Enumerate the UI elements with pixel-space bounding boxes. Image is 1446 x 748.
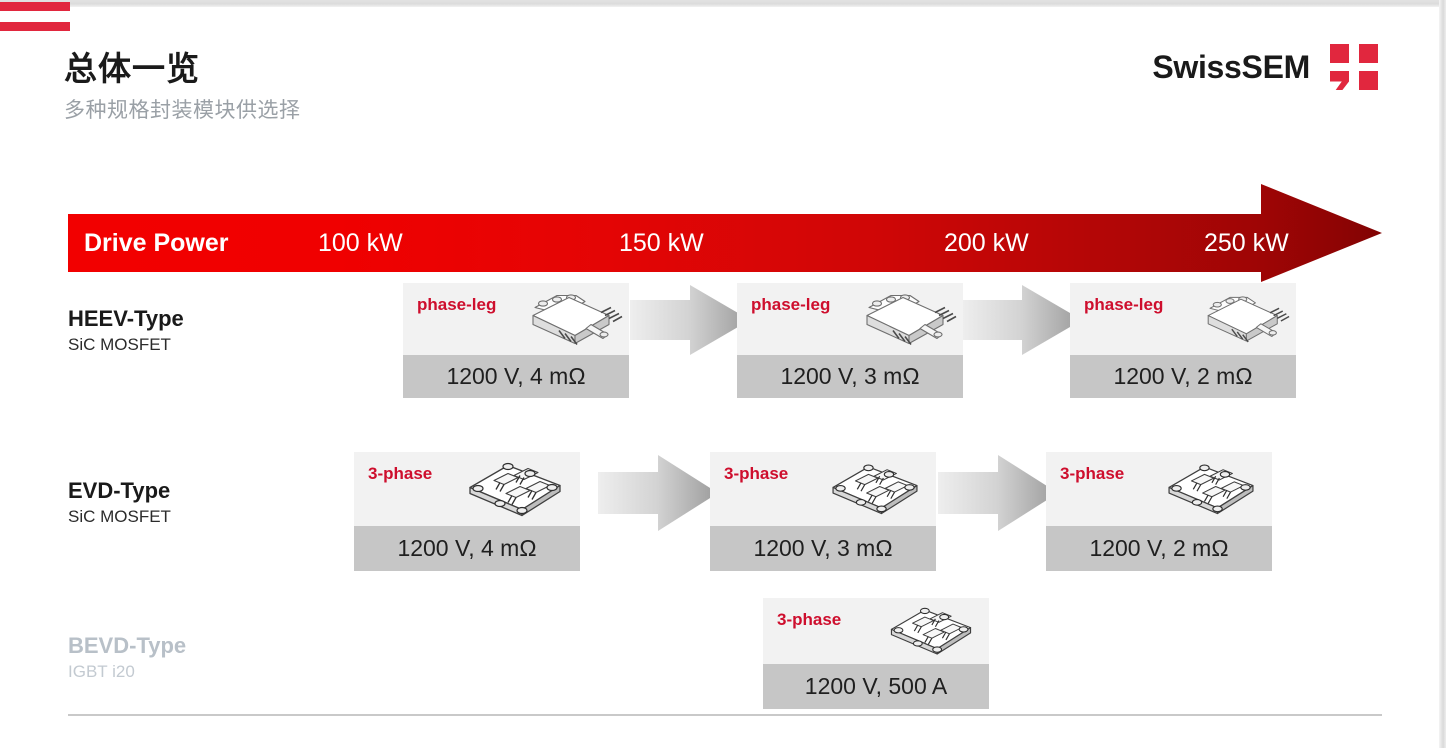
card-spec: 1200 V, 3 mΩ [737,355,963,398]
card-heev-150kw[interactable]: phase-leg [737,283,963,398]
card-heev-200kw[interactable]: phase-leg [1070,283,1296,398]
card-tag: phase-leg [751,295,830,315]
card-spec: 1200 V, 3 mΩ [710,526,936,571]
connector-arrow-heev-2 [962,285,1082,355]
logo-square-top-right [1359,44,1378,63]
slide-canvas: 总体一览 多种规格封装模块供选择 SwissSEM Drive Power 10… [0,0,1446,748]
brand-logo-wordmark: SwissSEM [1152,49,1310,86]
card-image-area: 3-phase [710,452,936,526]
card-evd-200kw[interactable]: 3-phase [1046,452,1272,571]
card-image-area: phase-leg [1070,283,1296,355]
slide-right-edge [1439,0,1446,748]
connector-shaft [938,472,1005,515]
connector-arrow-evd-1 [598,455,718,531]
row-label-evd: EVD-Type SiC MOSFET [68,477,171,529]
connector-shaft [598,472,665,515]
card-image-area: phase-leg [737,283,963,355]
page-title: 总体一览 [64,42,200,90]
card-tag: phase-leg [1084,295,1163,315]
row-label-bevd: BEVD-Type IGBT i20 [68,632,186,684]
power-module-3phase-icon [456,454,574,525]
row-label-heev: HEEV-Type SiC MOSFET [68,305,184,357]
power-axis-tick-250kw: 250 kW [1204,214,1289,272]
card-spec: 1200 V, 500 A [763,664,989,709]
logo-square-bottom-left-comma [1330,71,1349,90]
card-spec: 1200 V, 2 mΩ [1046,526,1272,571]
power-module-phase-leg-icon [847,286,957,353]
logo-square-top-left [1330,44,1349,63]
row-label-evd-sub: SiC MOSFET [68,505,171,529]
card-spec: 1200 V, 4 mΩ [354,526,580,571]
card-evd-150kw[interactable]: 3-phase [710,452,936,571]
card-bevd-150kw[interactable]: 3-phase [763,598,989,709]
power-axis-tick-200kw: 200 kW [944,214,1029,272]
connector-shaft [962,300,1029,339]
power-axis-tick-100kw: 100 kW [318,214,403,272]
card-image-area: phase-leg [403,283,629,355]
brand-logo: SwissSEM [1152,44,1378,90]
power-module-3phase-icon [1156,456,1266,523]
card-image-area: 3-phase [763,598,989,664]
power-axis-tick-150kw: 150 kW [619,214,704,272]
power-module-3phase-icon [879,600,983,663]
row-label-heev-sub: SiC MOSFET [68,333,184,357]
red-double-bar-decoration [0,0,70,48]
logo-square-bottom-right [1359,71,1378,90]
power-module-phase-leg-icon [513,286,623,353]
row-label-evd-name: EVD-Type [68,477,171,505]
connector-arrowhead-icon [658,455,718,531]
card-tag: 3-phase [777,610,841,630]
card-evd-100kw[interactable]: 3-phase [354,452,580,571]
card-tag: 3-phase [1060,464,1124,484]
card-image-area: 3-phase [1046,452,1272,526]
footer-divider [68,714,1382,716]
row-label-bevd-sub: IGBT i20 [68,660,186,684]
card-tag: 3-phase [368,464,432,484]
power-axis-lead-label: Drive Power [84,214,229,272]
card-spec: 1200 V, 2 mΩ [1070,355,1296,398]
card-tag: phase-leg [417,295,496,315]
power-module-phase-leg-icon [1190,288,1290,351]
deco-bar-bottom [0,22,70,31]
row-label-bevd-name: BEVD-Type [68,632,186,660]
card-heev-100kw[interactable]: phase-leg [403,283,629,398]
drive-power-axis-arrow: Drive Power 100 kW 150 kW 200 kW 250 kW [68,184,1382,282]
power-module-3phase-icon [820,456,930,523]
connector-arrow-evd-2 [938,455,1058,531]
brand-logo-squares-icon [1330,44,1378,90]
page-subtitle: 多种规格封装模块供选择 [64,94,301,124]
connector-arrow-heev-1 [630,285,750,355]
card-spec: 1200 V, 4 mΩ [403,355,629,398]
deco-bar-top [0,2,70,11]
card-tag: 3-phase [724,464,788,484]
slide-top-band [0,0,1446,7]
connector-shaft [630,300,697,339]
row-label-heev-name: HEEV-Type [68,305,184,333]
card-image-area: 3-phase [354,452,580,526]
